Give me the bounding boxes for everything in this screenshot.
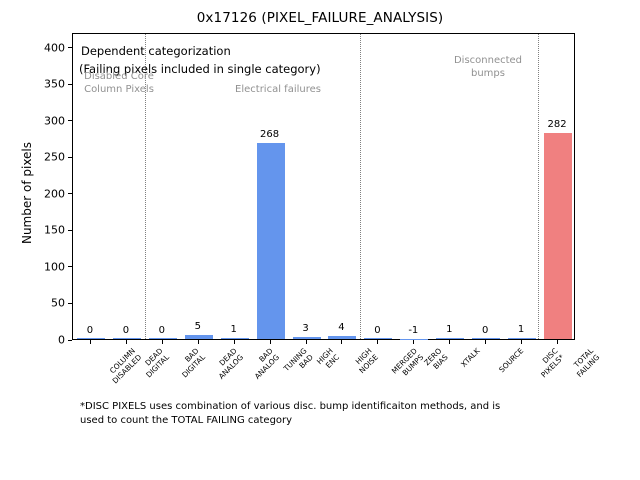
- x-axis-tick-label: HIGHENC: [315, 347, 341, 373]
- bar[interactable]: [113, 338, 141, 339]
- y-axis-tick-label: 50: [5, 297, 65, 310]
- group-divider-line: [360, 34, 362, 339]
- headline-annotation: Dependent categorization: [81, 44, 231, 58]
- y-axis-tick-label: 100: [5, 260, 65, 273]
- figure-canvas: 0x17126 (PIXEL_FAILURE_ANALYSIS) Number …: [0, 0, 640, 480]
- bar[interactable]: [77, 338, 105, 339]
- bar-value-label: 0: [159, 325, 165, 336]
- bar-value-label: 0: [87, 325, 93, 336]
- y-axis-tick-label: 250: [5, 151, 65, 164]
- bar[interactable]: [257, 143, 285, 339]
- bar-value-label: 1: [230, 324, 236, 335]
- footnote-line-2: used to count the TOTAL FAILING category: [80, 414, 570, 428]
- x-axis-tick-mark: [557, 340, 558, 344]
- bar[interactable]: [293, 337, 321, 339]
- x-axis-tick-mark: [341, 340, 342, 344]
- chart-footnote: *DISC PIXELS uses combination of various…: [80, 400, 570, 427]
- y-axis-tick-label: 300: [5, 114, 65, 127]
- x-axis-tick-label-line: XTALK: [460, 347, 482, 369]
- x-axis-tick-label: TOTALFAILING: [569, 347, 601, 379]
- bar-value-label: 282: [547, 119, 566, 130]
- x-axis-tick-mark: [270, 340, 271, 344]
- bar[interactable]: [364, 338, 392, 339]
- group-annotation-disconnected-bumps-line: bumps: [454, 68, 522, 81]
- group-annotation-disabled-core-line: Disabled Core: [84, 71, 154, 84]
- x-axis-tick-label: XTALK: [460, 347, 482, 369]
- chart-title: 0x17126 (PIXEL_FAILURE_ANALYSIS): [0, 10, 640, 26]
- x-axis-tick-mark: [521, 340, 522, 344]
- y-axis-tick-label: 350: [5, 78, 65, 91]
- x-axis-tick-label: SOURCE: [498, 347, 526, 375]
- x-axis-tick-mark: [90, 340, 91, 344]
- bar[interactable]: [221, 338, 249, 339]
- y-axis-tick-label: 400: [5, 41, 65, 54]
- x-axis-tick-mark: [377, 340, 378, 344]
- x-axis-tick-mark: [162, 340, 163, 344]
- bar-value-label: 1: [518, 324, 524, 335]
- x-axis-tick-label-line: SOURCE: [498, 347, 526, 375]
- x-axis-tick-label: BADDIGITAL: [174, 347, 207, 380]
- bar-value-label: 0: [123, 325, 129, 336]
- group-annotation-disconnected-bumps: Disconnectedbumps: [454, 55, 522, 80]
- x-axis-tick-label: COLUMNDISABLED: [105, 347, 144, 386]
- bar[interactable]: [544, 133, 572, 339]
- x-axis-tick-mark: [449, 340, 450, 344]
- bar-value-label: 1: [446, 324, 452, 335]
- x-axis-tick-label: DISCPIXELS*: [534, 347, 567, 380]
- plot-surface: Dependent categorization(Failing pixels …: [73, 34, 574, 339]
- y-axis-tick-label: 200: [5, 187, 65, 200]
- x-axis-tick-label: TUNINGBAD: [282, 347, 315, 380]
- group-annotation-disabled-core: Disabled CoreColumn Pixels: [84, 71, 154, 96]
- bar-value-label: 3: [302, 323, 308, 334]
- bar[interactable]: [508, 338, 536, 339]
- x-axis-tick-label: BADANALOG: [247, 347, 281, 381]
- x-axis-tick-mark: [413, 340, 414, 344]
- x-axis-tick-mark: [234, 340, 235, 344]
- x-axis-tick-mark: [485, 340, 486, 344]
- x-axis-tick-mark: [198, 340, 199, 344]
- x-axis-tick-label: ZEROBIAS: [423, 347, 450, 374]
- bar-value-label: -1: [408, 325, 418, 336]
- group-annotation-electrical-failures: Electrical failures: [235, 84, 321, 97]
- x-axis-tick-label: HIGHNOISE: [352, 347, 380, 375]
- x-axis-tick-mark: [306, 340, 307, 344]
- bar[interactable]: [149, 338, 177, 339]
- bar[interactable]: [328, 336, 356, 339]
- group-divider-line: [538, 34, 540, 339]
- bar[interactable]: [472, 338, 500, 339]
- x-axis-tick-label: DEADDIGITAL: [138, 347, 171, 380]
- group-annotation-disabled-core-line: Column Pixels: [84, 84, 154, 97]
- x-axis-tick-mark: [126, 340, 127, 344]
- plot-area: Dependent categorization(Failing pixels …: [72, 33, 575, 340]
- bar[interactable]: [436, 338, 464, 339]
- footnote-line-1: *DISC PIXELS uses combination of various…: [80, 400, 570, 414]
- bar-value-label: 0: [374, 325, 380, 336]
- group-annotation-disconnected-bumps-line: Disconnected: [454, 55, 522, 68]
- bar-value-label: 268: [260, 129, 279, 140]
- bar[interactable]: [185, 335, 213, 339]
- bar-value-label: 0: [482, 325, 488, 336]
- x-axis-tick-label: MERGEDBUMPS: [391, 347, 426, 382]
- bar-value-label: 5: [195, 321, 201, 332]
- x-axis-tick-label: DEADANALOG: [211, 347, 245, 381]
- y-axis-tick-label: 150: [5, 224, 65, 237]
- group-annotation-electrical-failures-line: Electrical failures: [235, 84, 321, 97]
- bar-value-label: 4: [338, 322, 344, 333]
- y-axis-tick-label: 0: [5, 334, 65, 347]
